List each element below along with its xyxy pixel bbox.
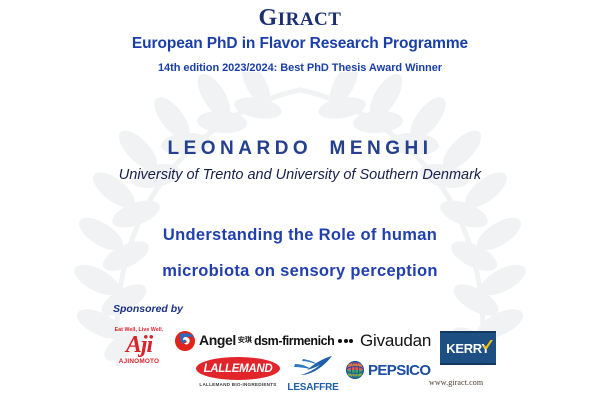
laurel-branch-left xyxy=(70,72,300,367)
sponsor-logo-pepsico[interactable]: PEPSICO xyxy=(345,360,431,380)
dsm-three-dots-icon xyxy=(338,339,353,343)
awardee-affiliation: University of Trento and University of S… xyxy=(0,167,600,183)
sponsored-by-label: Sponsored by xyxy=(113,303,183,315)
award-poster: GIRACT European PhD in Flavor Research P… xyxy=(0,0,600,400)
thesis-title-block: Understanding the Role of human microbio… xyxy=(0,226,600,281)
thesis-title-line-1: Understanding the Role of human xyxy=(0,226,600,245)
edition-subtitle: 14th edition 2023/2024: Best PhD Thesis … xyxy=(0,62,600,74)
website-url[interactable]: www.giract.com xyxy=(429,378,483,387)
thesis-title-line-2: microbiota on sensory perception xyxy=(0,262,600,281)
angel-wordmark: Angel xyxy=(199,332,236,348)
awardee-name: LEONARDO MENGHI xyxy=(0,138,600,160)
angel-chinese-name: 安琪 xyxy=(238,337,252,344)
pepsico-wordmark: PEPSICO xyxy=(368,362,431,379)
sponsor-logo-dsm-firmenich[interactable]: dsm-firmenich xyxy=(254,334,353,348)
programme-title: European PhD in Flavor Research Programm… xyxy=(0,35,600,53)
awardee-first-name: LEONARDO xyxy=(167,138,312,159)
sponsor-logo-ajinomoto[interactable]: Eat Well, Live Well. Aji AJINOMOTO xyxy=(100,327,178,365)
pepsico-globe-icon xyxy=(345,360,365,380)
ajinomoto-name: AJINOMOTO xyxy=(100,358,178,365)
sponsor-logo-kerry[interactable]: KERRY xyxy=(440,331,496,365)
givaudan-wordmark: Givaudan xyxy=(360,331,431,350)
kerry-check-icon xyxy=(483,340,493,351)
awardee-last-name: MENGHI xyxy=(330,138,433,159)
lesaffre-wordmark: LESAFFRE xyxy=(285,382,341,393)
lallemand-subtitle: LALLEMAND BIO-INGREDIENTS xyxy=(196,382,280,387)
giract-logo-remainder: IRACT xyxy=(278,9,342,30)
giract-logo-capital: G xyxy=(259,5,278,31)
dsm-firmenich-wordmark: dsm-firmenich xyxy=(254,334,334,348)
sponsor-logo-givaudan[interactable]: Givaudan xyxy=(360,331,431,351)
poster-header: GIRACT European PhD in Flavor Research P… xyxy=(0,6,600,74)
giract-logo: GIRACT xyxy=(0,6,600,30)
sponsor-logo-lesaffre[interactable]: LESAFFRE xyxy=(285,355,341,393)
name-spacer xyxy=(312,138,329,159)
lallemand-logo-oval: LALLEMAND xyxy=(196,357,280,380)
sponsor-logo-angel[interactable]: Angel 安琪 xyxy=(173,328,252,352)
ajinomoto-wordmark: Aji xyxy=(100,333,178,358)
laurel-branch-right xyxy=(300,72,530,367)
angel-swirl-icon xyxy=(173,328,197,352)
kerry-logo-box: KERRY xyxy=(440,331,496,365)
sponsor-logo-lallemand[interactable]: LALLEMAND LALLEMAND BIO-INGREDIENTS xyxy=(196,357,280,387)
lallemand-wordmark: LALLEMAND xyxy=(204,363,273,375)
lesaffre-wing-icon xyxy=(291,355,335,377)
awardee-block: LEONARDO MENGHI University of Trento and… xyxy=(0,138,600,183)
